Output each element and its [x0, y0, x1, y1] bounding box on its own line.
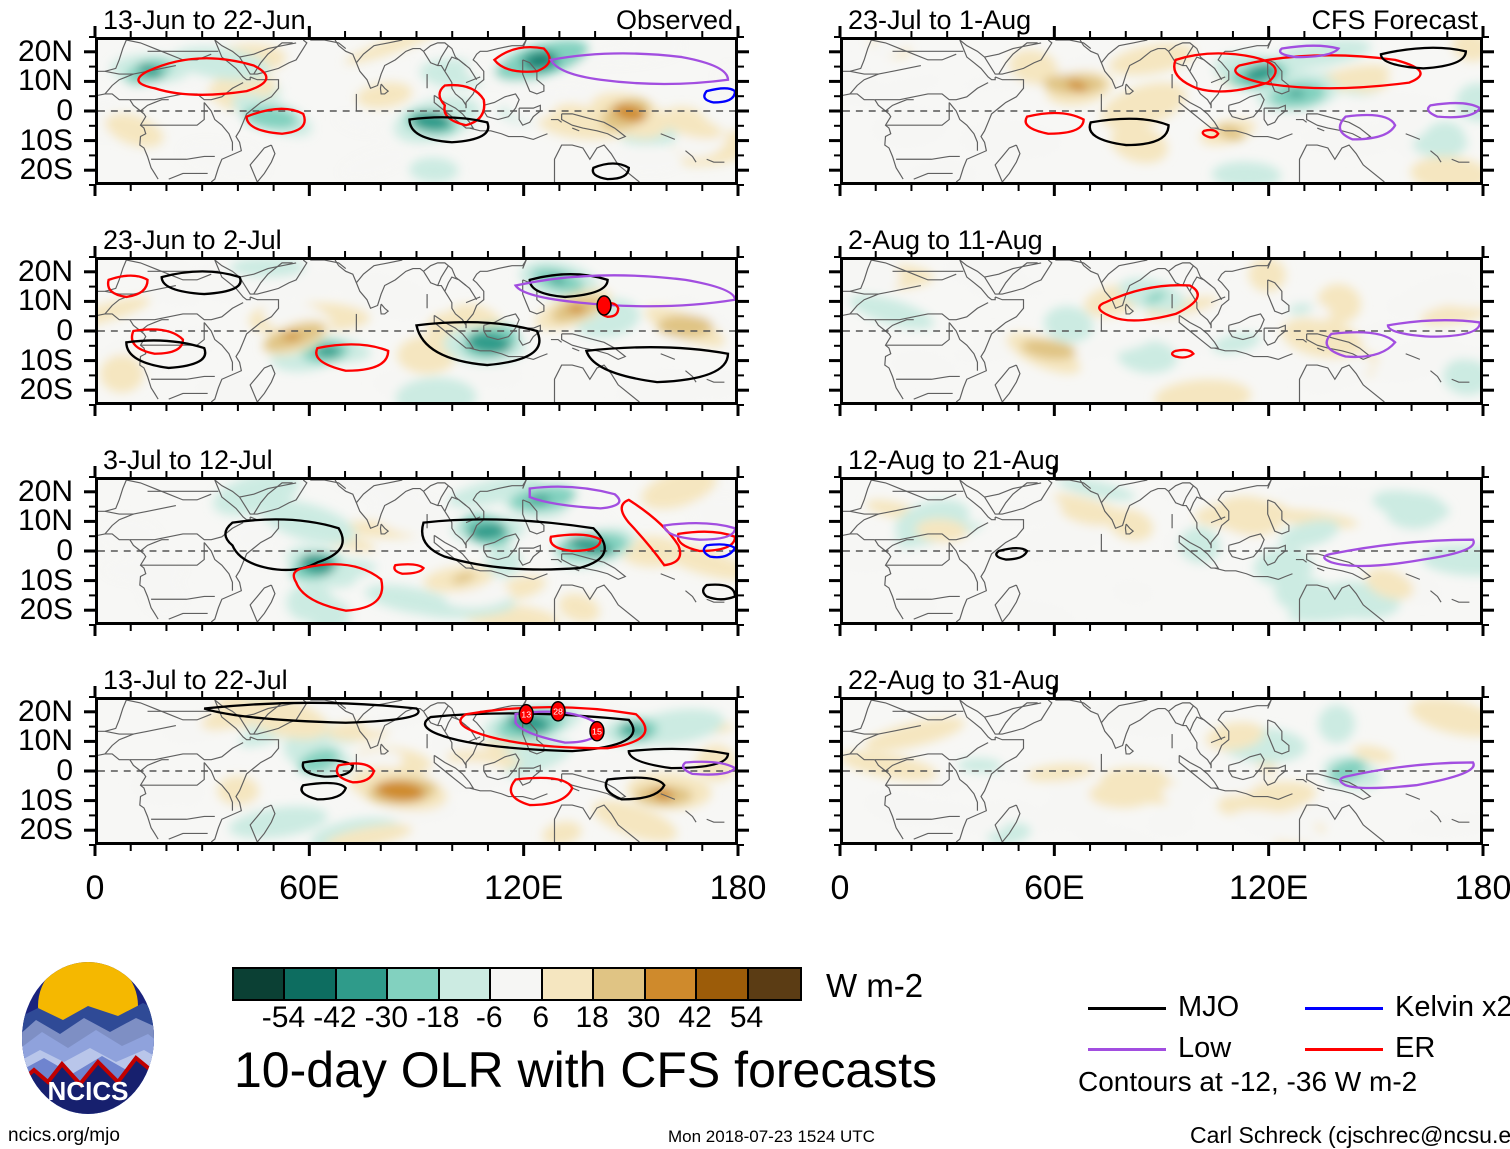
- colorbar-swatch: [285, 969, 336, 999]
- y-axis-label: 0: [0, 316, 73, 346]
- y-axis-label: 20S: [0, 815, 73, 845]
- y-axis-label: 20N: [0, 697, 73, 727]
- legend-label-er: ER: [1395, 1034, 1435, 1063]
- y-axis-label: 20N: [0, 37, 73, 67]
- footer-author: Carl Schreck (cjschrec@ncsu.edu): [1190, 1124, 1510, 1147]
- colorbar-tick-label: 54: [730, 1003, 763, 1033]
- colorbar-swatch: [543, 969, 594, 999]
- svg-text:28: 28: [553, 707, 563, 717]
- panel-title-1: 13-Jun to 22-Jun: [103, 7, 306, 34]
- panel-title-5: 23-Jul to 1-Aug: [848, 7, 1031, 34]
- y-axis-label: 0: [0, 536, 73, 566]
- legend-swatch-er: [1305, 1048, 1383, 1051]
- figure-title: 10-day OLR with CFS forecasts: [234, 1045, 937, 1095]
- y-axis-label: 10N: [0, 66, 73, 96]
- map-svg: 132815: [98, 700, 735, 842]
- y-axis-label: 20N: [0, 257, 73, 287]
- x-axis-label: 180: [1455, 871, 1510, 905]
- colorbar-swatch: [491, 969, 542, 999]
- map-panel-2: [95, 257, 738, 405]
- colorbar-units-label: W m-2: [826, 969, 923, 1002]
- colorbar: [232, 967, 802, 1001]
- tc-marker: 15: [590, 722, 604, 741]
- map-panel-1: [95, 37, 738, 185]
- y-axis-label: 10N: [0, 726, 73, 756]
- x-axis-label: 0: [831, 871, 850, 905]
- colorbar-swatch: [440, 969, 491, 999]
- logo-text: NCICS: [48, 1076, 129, 1106]
- panel-title-2: 23-Jun to 2-Jul: [103, 227, 282, 254]
- panel-title-6: 2-Aug to 11-Aug: [848, 227, 1043, 254]
- footer-timestamp: Mon 2018-07-23 1524 UTC: [668, 1128, 875, 1145]
- ncics-logo: NCICS: [18, 958, 158, 1118]
- colorbar-tick-label: 42: [678, 1003, 711, 1033]
- column-header-right: CFS Forecast: [1311, 7, 1478, 34]
- panel-title-7: 12-Aug to 21-Aug: [848, 447, 1060, 474]
- footer-site[interactable]: ncics.org/mjo: [8, 1126, 120, 1145]
- colorbar-tick-label: -6: [476, 1003, 503, 1033]
- panel-title-4: 13-Jul to 22-Jul: [103, 667, 288, 694]
- colorbar-swatch: [337, 969, 388, 999]
- contour-note: Contours at -12, -36 W m-2: [1078, 1068, 1417, 1096]
- y-axis-label: 10S: [0, 126, 73, 156]
- map-svg: [843, 40, 1480, 182]
- legend-swatch-kelvin-x2: [1305, 1007, 1383, 1010]
- y-axis-label: 10S: [0, 566, 73, 596]
- map-panel-3: [95, 477, 738, 625]
- map-panel-6: [840, 257, 1483, 405]
- colorbar-swatch: [646, 969, 697, 999]
- map-panel-7: [840, 477, 1483, 625]
- map-panel-8: [840, 697, 1483, 845]
- map-svg: [843, 700, 1480, 842]
- y-axis-label: 10N: [0, 286, 73, 316]
- colorbar-swatch: [234, 969, 285, 999]
- svg-text:13: 13: [521, 710, 531, 720]
- colorbar-tick-label: 30: [627, 1003, 660, 1033]
- y-axis-label: 20S: [0, 595, 73, 625]
- legend-swatch-mjo: [1088, 1007, 1166, 1010]
- panel-title-3: 3-Jul to 12-Jul: [103, 447, 273, 474]
- y-axis-label: 0: [0, 756, 73, 786]
- y-axis-label: 10N: [0, 506, 73, 536]
- colorbar-tick-label: -18: [416, 1003, 459, 1033]
- map-svg: [98, 480, 735, 622]
- colorbar-tick-label: 6: [532, 1003, 549, 1033]
- colorbar-tick-label: -42: [313, 1003, 356, 1033]
- colorbar-swatch: [697, 969, 748, 999]
- colorbar-swatch: [388, 969, 439, 999]
- y-axis-label: 0: [0, 96, 73, 126]
- x-axis-label: 120E: [484, 871, 563, 905]
- x-axis-label: 120E: [1229, 871, 1308, 905]
- x-axis-label: 0: [86, 871, 105, 905]
- map-svg: [843, 480, 1480, 622]
- x-axis-label: 60E: [279, 871, 340, 905]
- tc-marker: [597, 296, 611, 315]
- colorbar-swatch: [749, 969, 800, 999]
- y-axis-label: 10S: [0, 346, 73, 376]
- y-axis-label: 20S: [0, 375, 73, 405]
- legend-label-kelvin-x2: Kelvin x2: [1395, 993, 1510, 1022]
- x-axis-label: 60E: [1024, 871, 1085, 905]
- svg-text:15: 15: [592, 727, 602, 737]
- legend-label-low: Low: [1178, 1034, 1231, 1063]
- column-header-left: Observed: [616, 7, 733, 34]
- tc-marker: 13: [519, 705, 533, 724]
- map-svg: [843, 260, 1480, 402]
- map-panel-4: 132815: [95, 697, 738, 845]
- y-axis-label: 20N: [0, 477, 73, 507]
- map-svg: [98, 40, 735, 182]
- colorbar-tick-label: 18: [575, 1003, 608, 1033]
- colorbar-swatch: [594, 969, 645, 999]
- y-axis-label: 20S: [0, 155, 73, 185]
- y-axis-label: 10S: [0, 786, 73, 816]
- colorbar-tick-label: -30: [365, 1003, 408, 1033]
- x-axis-label: 180: [710, 871, 767, 905]
- tc-marker: 28: [551, 702, 565, 721]
- legend-label-mjo: MJO: [1178, 993, 1239, 1022]
- legend-swatch-low: [1088, 1048, 1166, 1051]
- map-panel-5: [840, 37, 1483, 185]
- map-svg: [98, 260, 735, 402]
- colorbar-tick-label: -54: [262, 1003, 305, 1033]
- panel-title-8: 22-Aug to 31-Aug: [848, 667, 1060, 694]
